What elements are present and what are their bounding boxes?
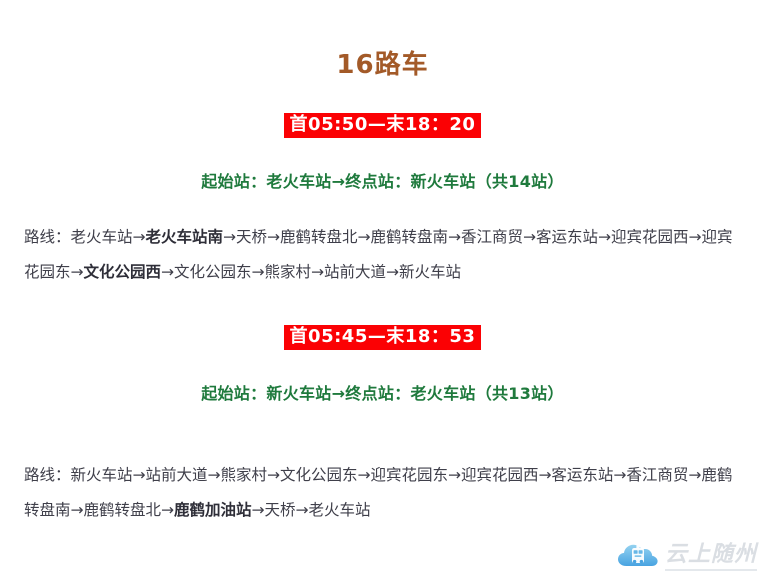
spacer xyxy=(0,138,765,170)
route-detail-inbound: 路线：新火车站→站前大道→熊家村→文化公园东→迎宾花园东→迎宾花园西→客运东站→… xyxy=(0,458,765,528)
page-title: 16路车 xyxy=(0,0,765,82)
spacer xyxy=(0,406,765,458)
spacer xyxy=(0,350,765,382)
spacer xyxy=(0,290,765,325)
watermark: 云上随州 xyxy=(617,539,757,573)
route-detail-outbound: 路线：老火车站→老火车站南→天桥→鹿鹤转盘北→鹿鹤转盘南→香江商贸→客运东站→迎… xyxy=(0,220,765,290)
schedule-banner-outbound: 首05:50—末18：20 xyxy=(284,113,482,138)
bus-route-page: 16路车 首05:50—末18：20 起始站：老火车站→终点站：新火车站（共14… xyxy=(0,0,765,581)
spacer xyxy=(0,82,765,113)
spacer xyxy=(0,194,765,220)
terminal-line-outbound: 起始站：老火车站→终点站：新火车站（共14站） xyxy=(0,170,765,194)
terminal-line-inbound: 起始站：新火车站→终点站：老火车站（共13站） xyxy=(0,382,765,406)
schedule-banner-row-inbound: 首05:45—末18：53 xyxy=(0,325,765,350)
cloud-bus-icon xyxy=(617,539,659,573)
schedule-banner-row-outbound: 首05:50—末18：20 xyxy=(0,113,765,138)
schedule-banner-inbound: 首05:45—末18：53 xyxy=(284,325,482,350)
watermark-text: 云上随州 xyxy=(665,542,757,571)
